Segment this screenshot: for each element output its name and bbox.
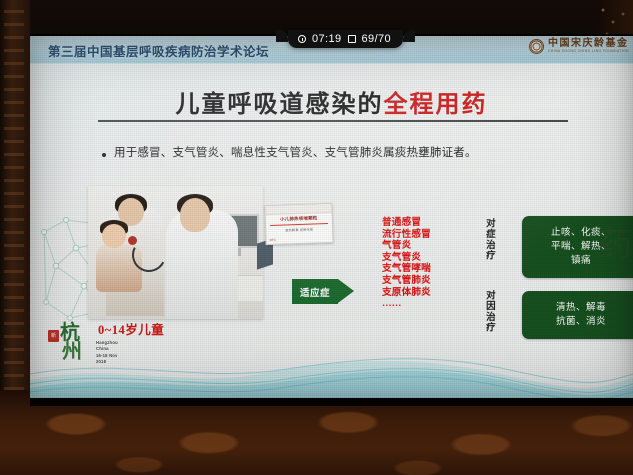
medicine-product-box: 小儿肺热咳喘颗粒 清热解毒 宣肺化痰 OTC bbox=[264, 203, 333, 245]
list-item: 普通感冒 bbox=[382, 217, 478, 229]
event-year-en: 2018 bbox=[96, 359, 118, 365]
list-item: 支气管炎 bbox=[382, 252, 478, 264]
clinic-photo bbox=[88, 186, 263, 319]
medicine-otc-mark: OTC bbox=[269, 238, 275, 242]
list-item: 气管炎 bbox=[382, 240, 478, 252]
sponsor-name-en: CHINA SOONG CHING LING FOUNDATION bbox=[548, 50, 629, 53]
bullet-row: 用于感冒、支气管炎、喘息性支气管炎、支气管肺炎属痰热壅肺证者。 bbox=[102, 146, 607, 162]
list-item: 流行性感冒 bbox=[382, 229, 478, 241]
event-logo: 新 杭 州 Hangzhou China 16-18 Nov 2018 bbox=[48, 324, 126, 374]
treatment-label-symptomatic: 对症治疗 bbox=[482, 218, 494, 276]
wall-light-panel bbox=[4, 10, 24, 410]
foundation-seal-icon bbox=[529, 39, 544, 54]
conference-title: 第三届中国基层呼吸疾病防治学术论坛 bbox=[48, 41, 269, 60]
page-icon bbox=[348, 35, 356, 43]
treatment-box-causal: 清热、解毒 抗菌、消炎 bbox=[522, 291, 633, 339]
disease-list: 普通感冒 流行性感冒 气管炎 支气管炎 支气管哮喘 支气管肺炎 支原体肺炎 …… bbox=[382, 217, 478, 310]
medicine-product-name: 小儿肺热咳喘颗粒 bbox=[266, 215, 332, 223]
indications-arrow-label: 适应症 bbox=[300, 285, 330, 299]
left-wall bbox=[0, 0, 30, 420]
event-dates-en: 16-18 Nov bbox=[96, 353, 118, 359]
treatment-label-causal: 对因治疗 bbox=[482, 290, 494, 348]
event-city-char-2: 州 bbox=[62, 343, 81, 362]
bullet-text: 用于感冒、支气管炎、喘息性支气管炎、支气管肺炎属痰热壅肺证者。 bbox=[114, 146, 477, 162]
slide-title-plain: 儿童呼吸道感染的 bbox=[176, 92, 384, 118]
projector-osd-overlay: 07:19 69/70 bbox=[288, 30, 403, 48]
indications-arrow: 适应症 bbox=[292, 279, 354, 304]
sponsor-name-cn: 中国宋庆龄基金 bbox=[548, 39, 629, 49]
list-item: 支气管肺炎 bbox=[382, 275, 478, 287]
list-item: …… bbox=[382, 298, 478, 310]
clock-icon bbox=[298, 35, 306, 43]
list-item: 支气管哮喘 bbox=[382, 263, 478, 275]
treatment-box-symptomatic-text: 止咳、化痰、 平喘、解热、 镇痛 bbox=[551, 226, 611, 268]
slide-title: 儿童呼吸道感染的全程用药 bbox=[30, 84, 633, 119]
presentation-slide: 药 第三届中国基层呼吸疾病防治学术论坛 中国宋庆龄基金 CHINA SOONG … bbox=[30, 36, 633, 398]
event-city-cn: 杭 州 bbox=[60, 324, 81, 362]
event-seal-icon: 新 bbox=[48, 330, 59, 342]
treatment-box-symptomatic: 止咳、化痰、 平喘、解热、 镇痛 bbox=[522, 216, 633, 278]
event-details-en: Hangzhou China 16-18 Nov 2018 bbox=[96, 340, 118, 365]
osd-page-counter: 69/70 bbox=[362, 33, 392, 45]
projection-screen: 药 第三届中国基层呼吸疾病防治学术论坛 中国宋庆龄基金 CHINA SOONG … bbox=[30, 36, 633, 398]
list-item: 支原体肺炎 bbox=[382, 287, 478, 299]
sponsor-logo: 中国宋庆龄基金 CHINA SOONG CHING LING FOUNDATIO… bbox=[529, 39, 629, 54]
bullet-dot-icon bbox=[102, 153, 106, 157]
title-divider bbox=[98, 120, 568, 122]
slide-title-highlight: 全程用药 bbox=[384, 92, 488, 118]
treatment-box-causal-text: 清热、解毒 抗菌、消炎 bbox=[556, 301, 606, 329]
arrow-tip-icon bbox=[338, 279, 354, 303]
medicine-product-subtitle: 清热解毒 宣肺化痰 bbox=[266, 226, 332, 233]
osd-notch-right bbox=[403, 30, 415, 42]
osd-time: 07:19 bbox=[312, 33, 342, 45]
